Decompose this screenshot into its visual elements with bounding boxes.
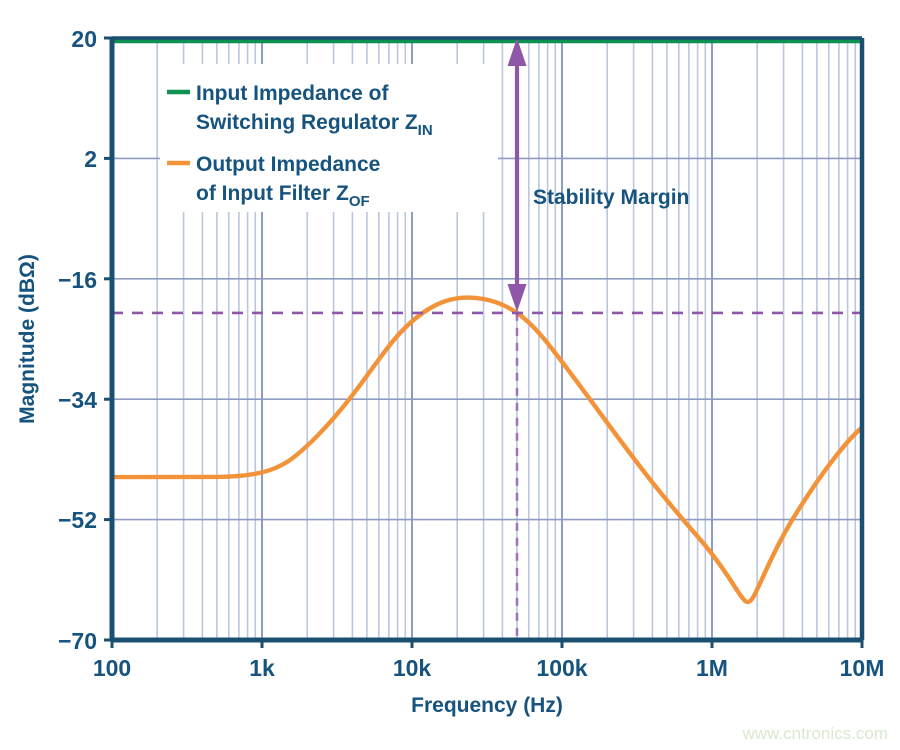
impedance-bode-chart: Stability Margin Input Impedance of Swit… <box>0 0 900 750</box>
y-tick-label-minus70: −70 <box>58 628 97 654</box>
y-tick-label-minus34: −34 <box>58 387 97 413</box>
x-axis-title: Frequency (Hz) <box>411 694 563 717</box>
legend-zof-line1: Output Impedance <box>196 153 380 176</box>
legend-zin-line2: Switching Regulator Z <box>196 111 418 134</box>
y-tick-label-minus52: −52 <box>58 507 97 533</box>
legend-zin-line1: Input Impedance of <box>196 82 390 105</box>
x-tick-label-10k: 10k <box>393 655 432 681</box>
x-tick-label-100: 100 <box>93 655 131 681</box>
chart-page: Stability Margin Input Impedance of Swit… <box>0 0 900 750</box>
x-tick-label-1k: 1k <box>249 655 275 681</box>
watermark: www.cntronics.com <box>742 724 888 743</box>
y-tick-label-minus16: −16 <box>58 267 97 293</box>
legend-entry-zof: Output Impedance of Input Filter ZOF <box>167 153 380 210</box>
y-tick-label-2: 2 <box>84 146 97 172</box>
stability-margin-label: Stability Margin <box>533 186 689 209</box>
svg-text:Output Impedance: Output Impedance <box>196 153 380 176</box>
x-tick-label-100k: 100k <box>536 655 587 681</box>
x-tick-label-10M: 10M <box>840 655 885 681</box>
x-tick-label-1M: 1M <box>696 655 728 681</box>
y-axis-title: Magnitude (dBΩ) <box>16 254 39 424</box>
legend-zof-line2: of Input Filter Z <box>196 182 349 205</box>
y-tick-label-20: 20 <box>71 26 97 52</box>
legend-zof-sub: OF <box>349 193 370 210</box>
legend-zin-sub: IN <box>418 122 433 139</box>
svg-text:Input Impedance of: Input Impedance of <box>196 82 390 105</box>
